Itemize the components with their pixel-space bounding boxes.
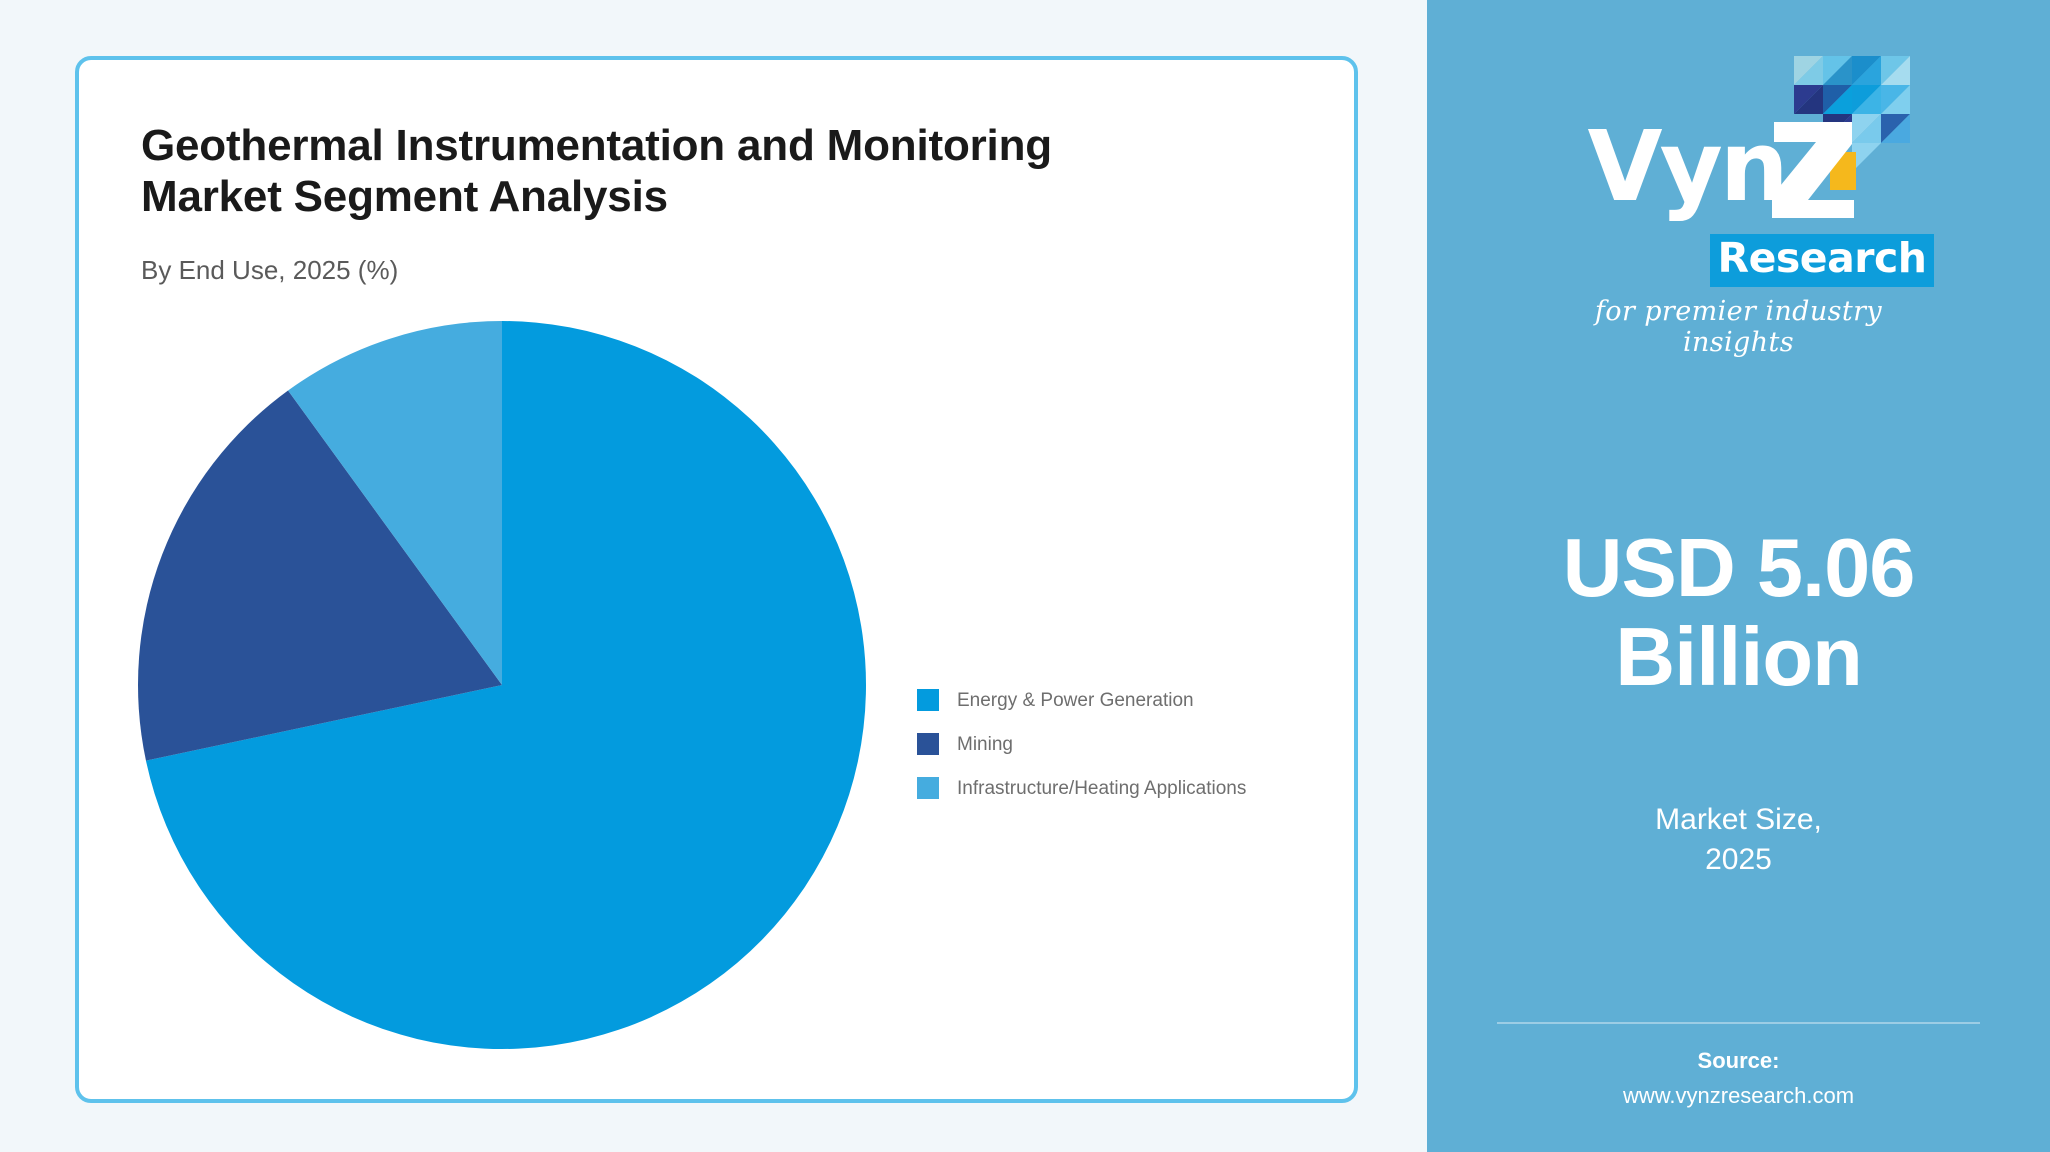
pie-chart: [137, 320, 867, 1050]
pie-chart-svg: [137, 320, 867, 1050]
logo-inner: Vyn Research for premier industry insigh…: [1574, 56, 1904, 296]
pie-slice-group: [138, 321, 866, 1049]
brand-logo[interactable]: Vyn Research for premier industry insigh…: [1427, 56, 2050, 296]
legend-item-energy-power-generation[interactable]: Energy & Power Generation: [917, 678, 1337, 722]
logo-tagline: for premier industry insights: [1574, 296, 1904, 358]
chart-card: Geothermal Instrumentation and Monitorin…: [75, 56, 1358, 1103]
logo-wordmark: Vyn: [1588, 118, 1786, 215]
side-panel: Vyn Research for premier industry insigh…: [1427, 0, 2050, 1152]
logo-z-mark: [1770, 118, 1856, 222]
chart-subtitle: By End Use, 2025 (%): [141, 255, 398, 286]
market-value: USD 5.06 Billion: [1467, 524, 2010, 702]
logo-subbrand: Research: [1710, 234, 1935, 287]
market-caption-line-1: Market Size,: [1467, 800, 2010, 840]
legend-item-mining[interactable]: Mining: [917, 722, 1337, 766]
infographic-page: Geothermal Instrumentation and Monitorin…: [0, 0, 2050, 1152]
legend-swatch-icon: [917, 777, 939, 799]
legend-item-label: Infrastructure/Heating Applications: [957, 779, 1246, 798]
logo-z-icon: [1770, 118, 1856, 222]
source-label: Source:: [1467, 1048, 2010, 1074]
market-caption: Market Size, 2025: [1467, 800, 2010, 879]
legend-item-label: Mining: [957, 735, 1013, 754]
market-value-line-2: Billion: [1467, 613, 2010, 702]
market-value-line-1: USD 5.06: [1467, 524, 2010, 613]
source-url[interactable]: www.vynzresearch.com: [1467, 1083, 2010, 1109]
chart-legend: Energy & Power Generation Mining Infrast…: [917, 678, 1337, 810]
legend-item-label: Energy & Power Generation: [957, 691, 1194, 710]
legend-item-infrastructure-heating-applications[interactable]: Infrastructure/Heating Applications: [917, 766, 1337, 810]
divider: [1497, 1022, 1980, 1024]
page-title: Geothermal Instrumentation and Monitorin…: [141, 120, 1191, 223]
legend-swatch-icon: [917, 733, 939, 755]
market-caption-line-2: 2025: [1467, 840, 2010, 880]
legend-swatch-icon: [917, 689, 939, 711]
